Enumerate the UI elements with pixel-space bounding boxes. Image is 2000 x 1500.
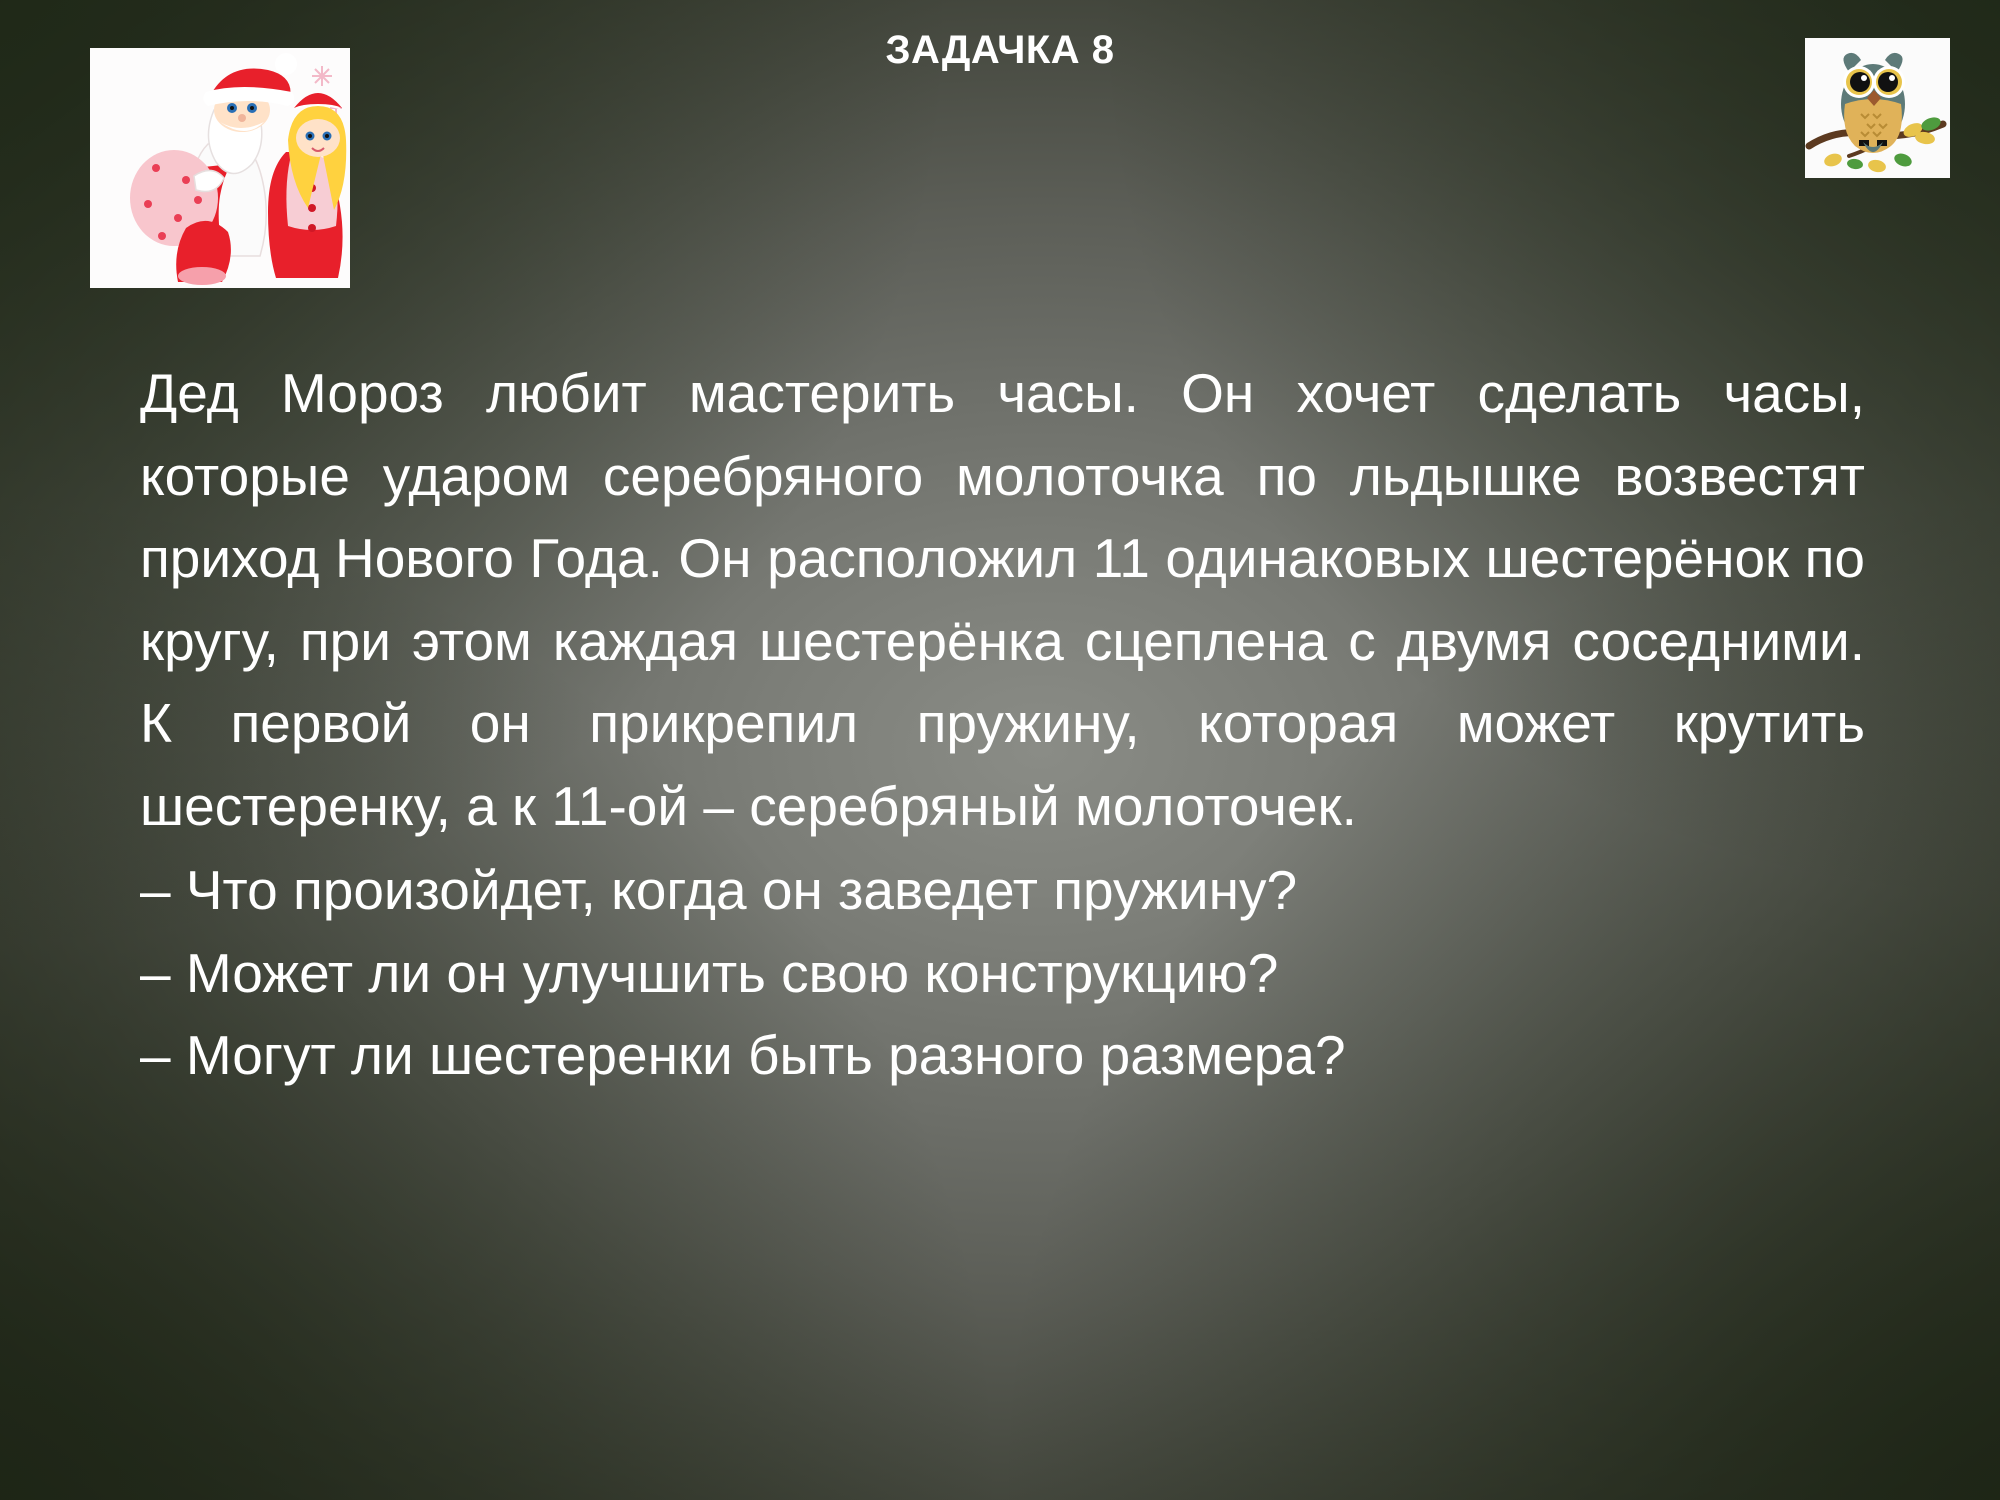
question-line-2: – Может ли он улучшить свою конструкцию? (140, 932, 1865, 1015)
slide-body-text: Дед Мороз любит мастерить часы. Он хочет… (140, 352, 1865, 1097)
question-line-3: – Могут ли шестеренки быть разного разме… (140, 1014, 1865, 1097)
ded-moroz-snegurochka-image (90, 48, 350, 288)
owl-on-branch-image (1805, 38, 1950, 178)
question-line-1: – Что произойдет, когда он заведет пружи… (140, 849, 1865, 932)
problem-paragraph: Дед Мороз любит мастерить часы. Он хочет… (140, 352, 1865, 847)
questions-list: – Что произойдет, когда он заведет пружи… (140, 849, 1865, 1097)
presentation-slide: ЗАДАЧКА 8 (0, 0, 2000, 1500)
